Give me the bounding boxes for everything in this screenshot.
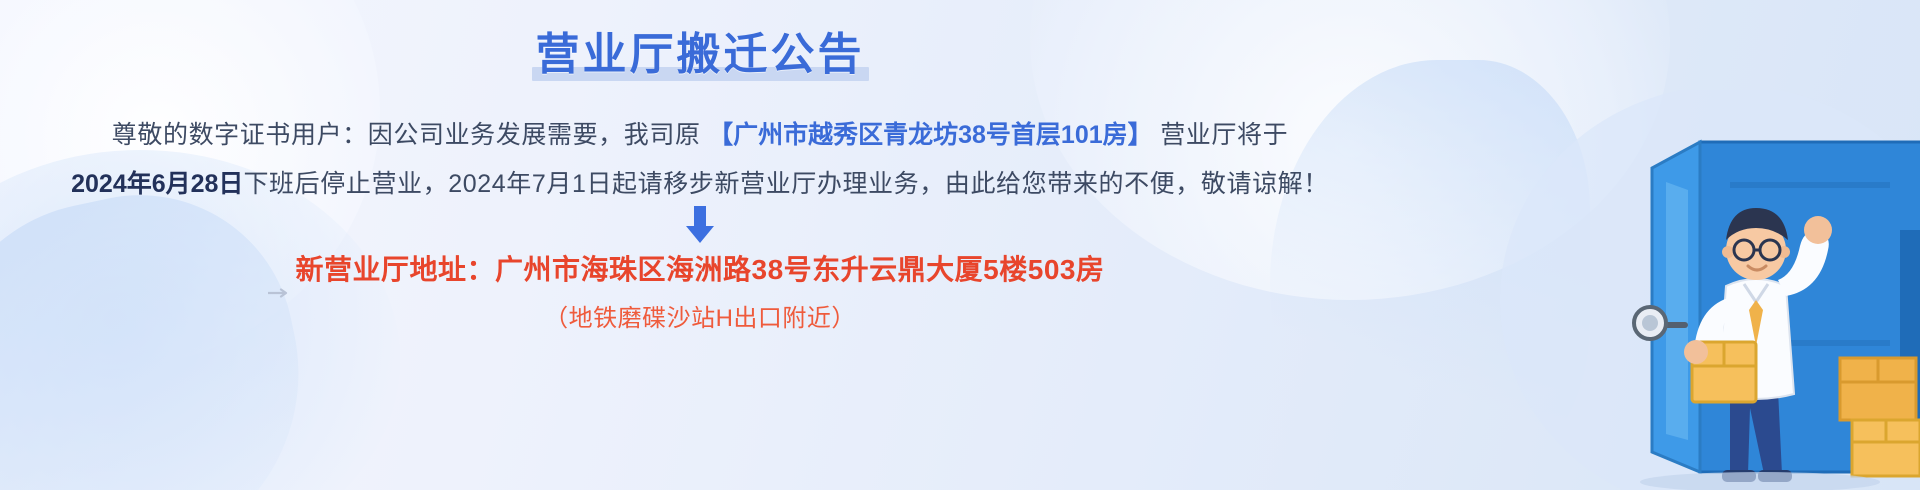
new-address-note: （地铁磨碟沙站H出口附近） [0, 298, 1400, 333]
small-pointer-arrow-icon [268, 288, 294, 298]
arrow-down-icon [683, 206, 717, 244]
moving-truck-illustration [1400, 90, 1920, 490]
page-title: 营业厅搬迁公告 [530, 26, 871, 84]
old-address-highlight: 【广州市越秀区青龙坊38号首层101房】 [708, 121, 1153, 149]
announcement-banner: 营业厅搬迁公告 尊敬的数字证书用户：因公司业务发展需要，我司原 【广州市越秀区青… [0, 0, 1920, 490]
cardboard-box-stack [1840, 358, 1920, 476]
closing-date-highlight: 2024年6月28日 [71, 170, 243, 198]
announcement-content: 营业厅搬迁公告 尊敬的数字证书用户：因公司业务发展需要，我司原 【广州市越秀区青… [0, 0, 1400, 490]
notice-line-1: 尊敬的数字证书用户：因公司业务发展需要，我司原 【广州市越秀区青龙坊38号首层1… [0, 118, 1400, 154]
new-address: 新营业厅地址：广州市海珠区海洲路38号东升云鼎大厦5楼503房 [0, 248, 1400, 288]
notice-line-1-suffix: 营业厅将于 [1160, 121, 1288, 149]
arrow-down-container [0, 206, 1400, 246]
title-text: 营业厅搬迁公告 [536, 30, 865, 79]
notice-line-1-prefix: 尊敬的数字证书用户：因公司业务发展需要，我司原 [112, 121, 701, 149]
notice-line-2-rest: 下班后停止营业，2024年7月1日起请移步新营业厅办理业务，由此给您带来的不便，… [243, 170, 1328, 198]
notice-line-2: 2024年6月28日下班后停止营业，2024年7月1日起请移步新营业厅办理业务，… [0, 167, 1400, 203]
